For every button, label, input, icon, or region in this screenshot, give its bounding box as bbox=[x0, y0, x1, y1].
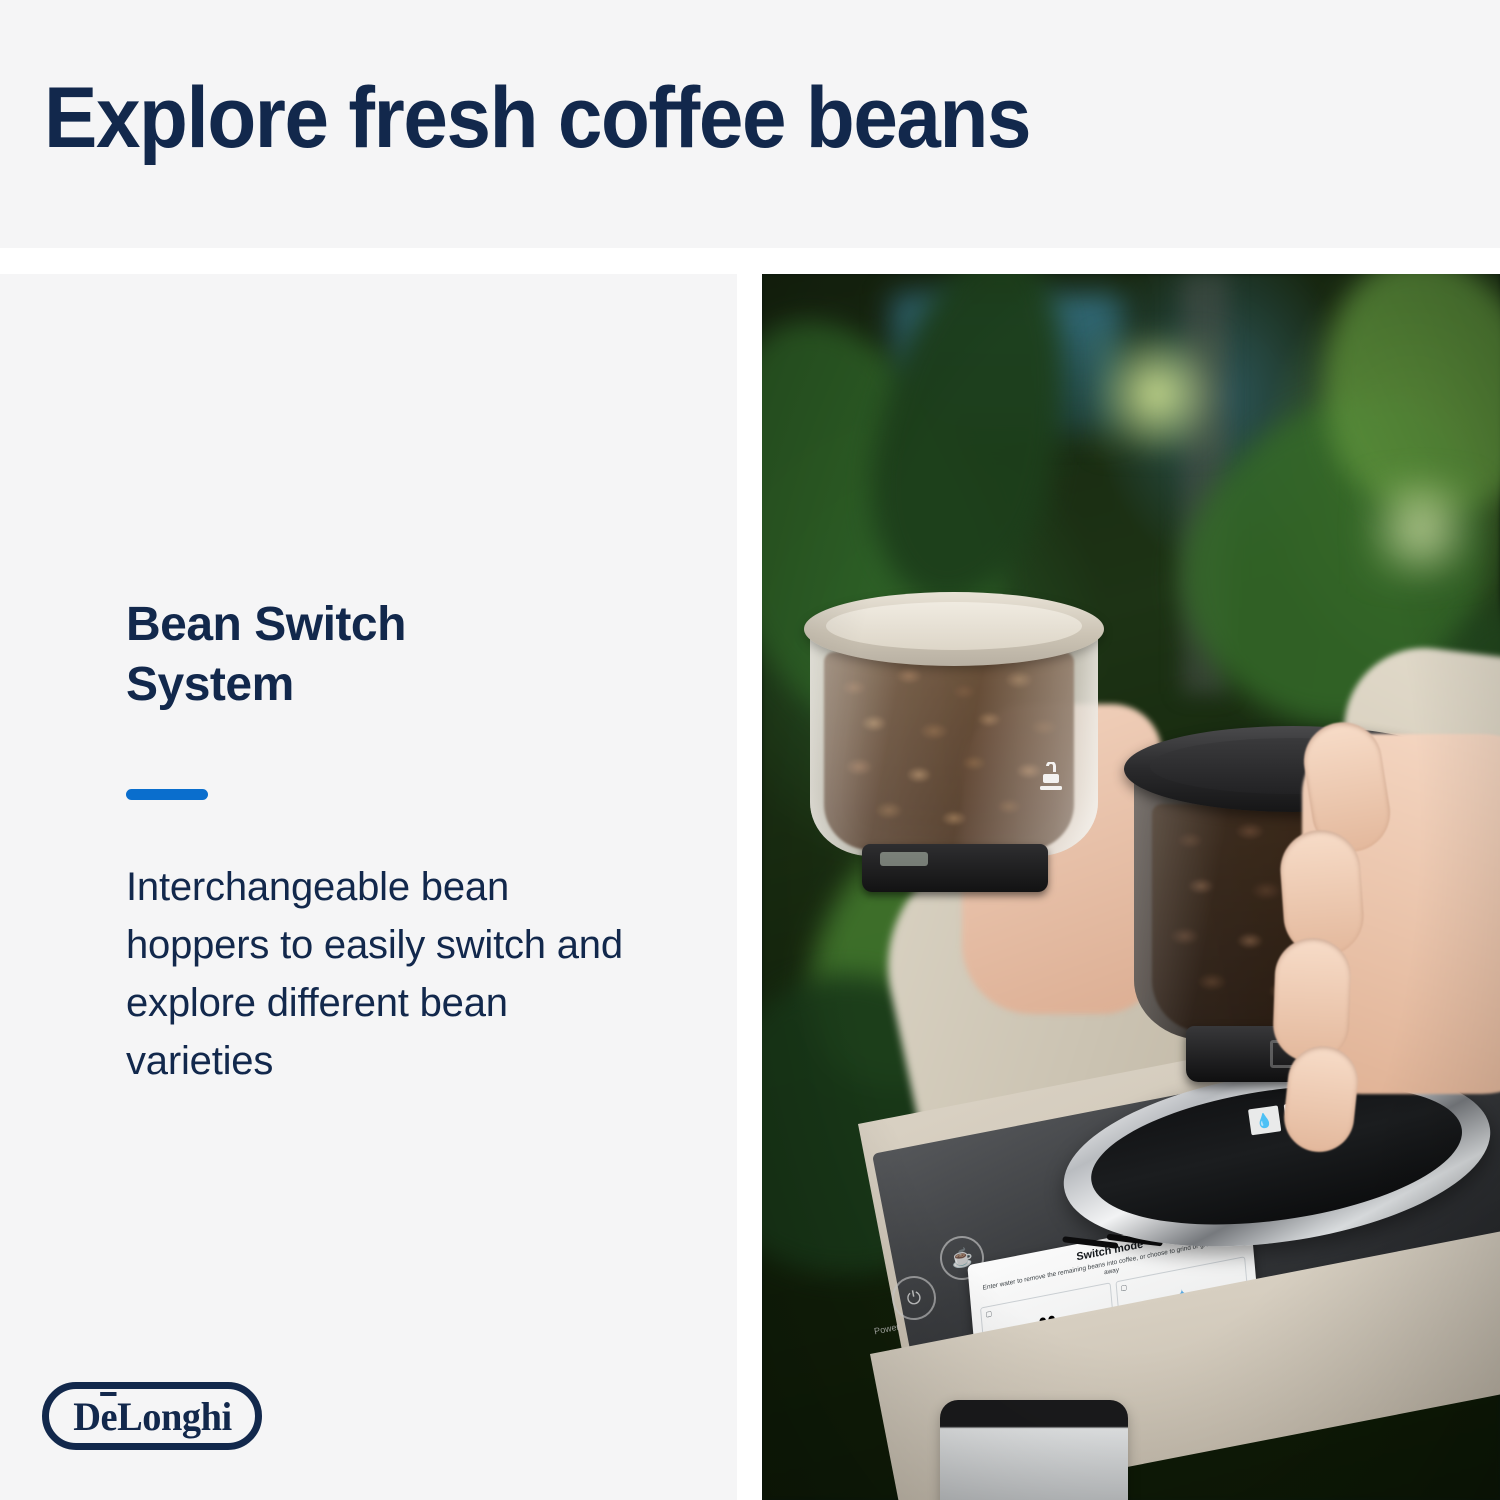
feature-heading: Bean Switch System bbox=[126, 595, 576, 715]
logo-wordmark: DeLonghi bbox=[73, 1393, 231, 1440]
macron-accent: e bbox=[100, 1394, 117, 1439]
leaf-highlight bbox=[1092, 334, 1222, 454]
product-photo: ⏻ Power ☕ ⚙ Settings Switch mode Enter w… bbox=[762, 274, 1500, 1500]
feature-text-panel: Bean Switch System Interchangeable bean … bbox=[0, 274, 737, 1500]
light-roast-bean-hopper[interactable] bbox=[804, 592, 1104, 892]
page-title: Explore fresh coffee beans bbox=[44, 72, 1030, 164]
hopper-mount-collar bbox=[862, 844, 1048, 892]
coffee-dispenser-spout bbox=[940, 1400, 1128, 1500]
hopper-lid-inner bbox=[826, 602, 1082, 650]
page-header: Explore fresh coffee beans bbox=[0, 0, 1500, 248]
no-water-icon: 💧 bbox=[1247, 1105, 1280, 1135]
finger bbox=[1272, 937, 1352, 1064]
cup-icon: ▢ bbox=[985, 1310, 992, 1319]
accent-divider bbox=[126, 789, 208, 800]
grinder-icon: ▢ bbox=[1120, 1283, 1127, 1292]
marketing-page: Explore fresh coffee beans Bean Switch S… bbox=[0, 0, 1500, 1500]
hopper-lid[interactable] bbox=[804, 592, 1104, 666]
delonghi-logo: DeLonghi bbox=[42, 1382, 262, 1450]
leaf-highlight bbox=[1362, 474, 1482, 584]
delonghi-mark-icon bbox=[1038, 762, 1064, 792]
feature-description: Interchangeable bean hoppers to easily s… bbox=[126, 858, 636, 1090]
